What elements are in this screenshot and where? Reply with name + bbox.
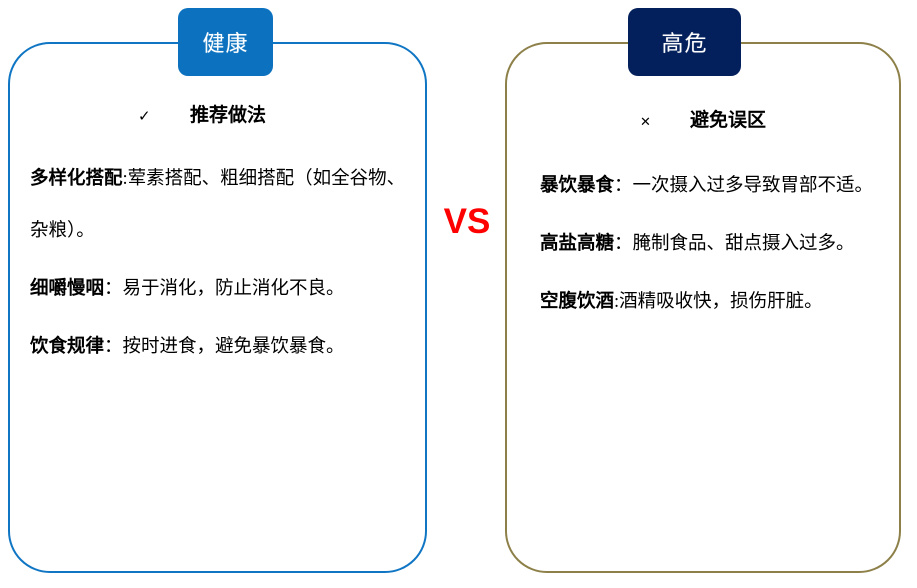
item-desc: ：腌制食品、甜点摄入过多。 bbox=[614, 234, 855, 254]
badge-healthy: 健康 bbox=[178, 8, 273, 76]
comparison-diagram: 健康 ✓推荐做法 多样化搭配:荤素搭配、粗细搭配（如全谷物、杂粮）。 细嚼慢咽：… bbox=[0, 0, 917, 588]
list-item: 细嚼慢咽：易于消化，防止消化不良。 bbox=[30, 263, 410, 315]
versus-label: VS bbox=[437, 203, 497, 241]
list-item: 暴饮暴食：一次摄入过多导致胃部不适。 bbox=[540, 160, 892, 212]
item-term: 饮食规律 bbox=[30, 337, 104, 357]
item-desc: ：易于消化，防止消化不良。 bbox=[104, 279, 345, 299]
list-item: 空腹饮酒:酒精吸收快，损伤肝脏。 bbox=[540, 276, 892, 328]
cross-icon: ✕ bbox=[640, 115, 690, 130]
item-desc: ：一次摄入过多导致胃部不适。 bbox=[614, 176, 873, 196]
badge-high-risk-label: 高危 bbox=[661, 26, 707, 58]
high-risk-heading: ✕避免误区 bbox=[540, 105, 892, 132]
item-term: 暴饮暴食 bbox=[540, 176, 614, 196]
list-item: 饮食规律：按时进食，避免暴饮暴食。 bbox=[30, 321, 410, 373]
item-term: 高盐高糖 bbox=[540, 234, 614, 254]
healthy-content: ✓推荐做法 多样化搭配:荤素搭配、粗细搭配（如全谷物、杂粮）。 细嚼慢咽：易于消… bbox=[30, 100, 410, 379]
high-risk-content: ✕避免误区 暴饮暴食：一次摄入过多导致胃部不适。 高盐高糖：腌制食品、甜点摄入过… bbox=[540, 105, 892, 334]
high-risk-heading-label: 避免误区 bbox=[690, 110, 766, 131]
item-desc: :酒精吸收快，损伤肝脏。 bbox=[614, 292, 823, 312]
badge-healthy-label: 健康 bbox=[202, 26, 248, 58]
list-item: 高盐高糖：腌制食品、甜点摄入过多。 bbox=[540, 218, 892, 270]
item-term: 细嚼慢咽 bbox=[30, 279, 104, 299]
item-desc: ：按时进食，避免暴饮暴食。 bbox=[104, 337, 345, 357]
healthy-heading-label: 推荐做法 bbox=[190, 105, 266, 126]
list-item: 多样化搭配:荤素搭配、粗细搭配（如全谷物、杂粮）。 bbox=[30, 153, 410, 257]
item-term: 空腹饮酒 bbox=[540, 292, 614, 312]
item-term: 多样化搭配 bbox=[30, 169, 123, 189]
check-icon: ✓ bbox=[138, 107, 190, 125]
healthy-heading: ✓推荐做法 bbox=[30, 100, 410, 127]
badge-high-risk: 高危 bbox=[628, 8, 741, 76]
